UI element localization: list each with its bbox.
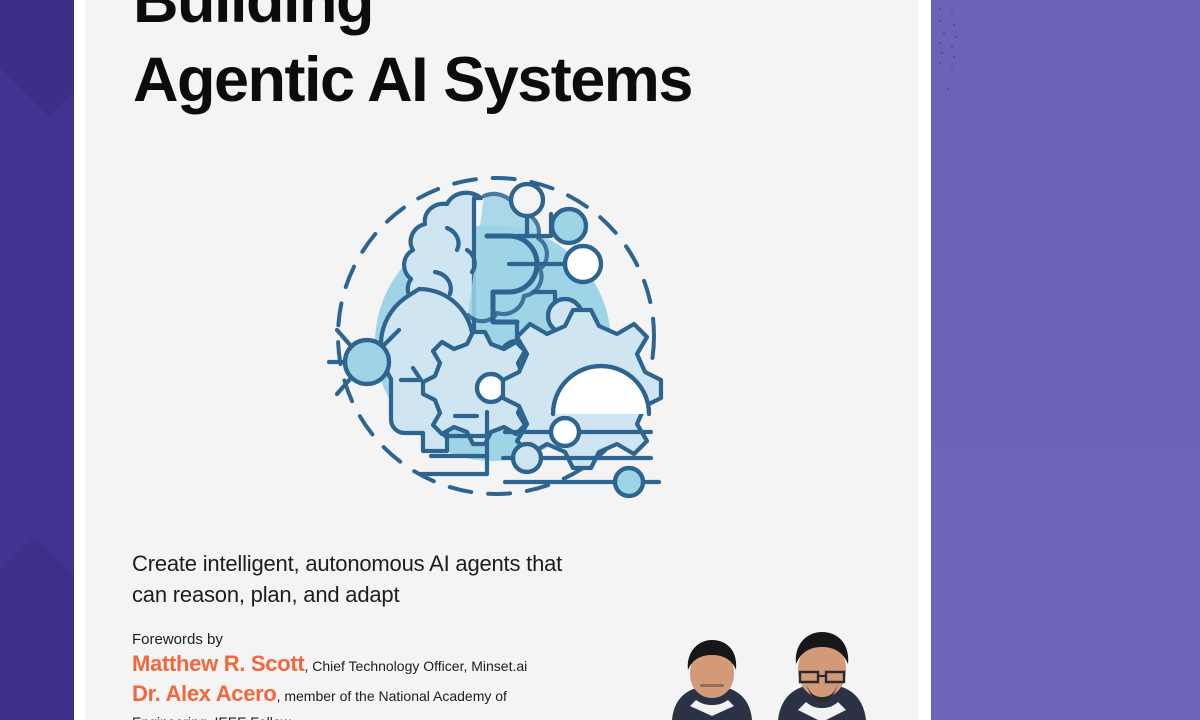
right-panel-lower-shade	[931, 446, 1200, 720]
subtitle-line-2: can reason, plan, and adapt	[132, 579, 752, 610]
page-title: Building Agentic AI Systems	[133, 0, 893, 120]
subtitle-line-1: Create intelligent, autonomous AI agents…	[132, 548, 752, 579]
screenshot-root: Building Agentic AI Systems	[0, 0, 1200, 720]
band-left-corner-shade-top	[0, 0, 74, 117]
book-cover-card: Building Agentic AI Systems	[85, 0, 918, 720]
author-portraits	[660, 618, 918, 720]
ai-brain-gears-illustration	[321, 168, 671, 508]
right-purple-panel	[931, 0, 1200, 720]
foreword-name-1: Matthew R. Scott	[132, 651, 304, 676]
left-purple-band	[0, 0, 74, 720]
foreword-role-2: , member of the National Academy of	[277, 688, 507, 704]
title-line-2: Agentic AI Systems	[133, 41, 893, 120]
subtitle: Create intelligent, autonomous AI agents…	[132, 548, 752, 610]
foreword-name-2: Dr. Alex Acero	[132, 681, 277, 706]
decorative-dot-cluster	[937, 6, 971, 92]
foreword-role-1: , Chief Technology Officer, Minset.ai	[304, 658, 527, 674]
band-left-corner-shade-bottom	[0, 537, 74, 720]
title-line-1: Building	[133, 0, 893, 41]
